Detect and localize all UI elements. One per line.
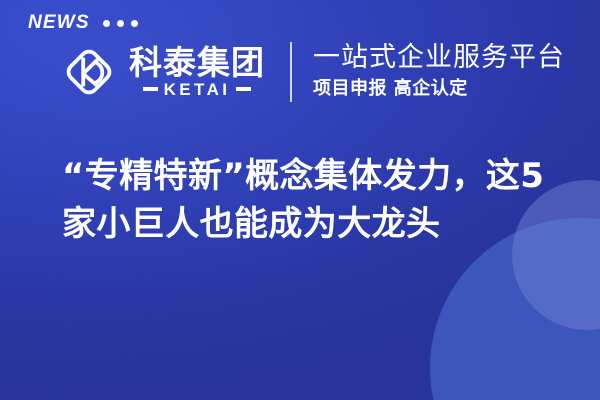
tagline-sub: 项目申报 高企认定 — [313, 78, 565, 101]
brand-name-en: KETAI — [164, 81, 231, 98]
brand-name-cn: 科泰集团 — [129, 46, 265, 80]
dot-icon — [117, 20, 124, 27]
headline: “专精特新”概念集体发力，这5 家小巨人也能成为大龙头 — [62, 152, 562, 249]
dot-icon — [103, 20, 110, 27]
brand-logo: 科泰集团 KETAI — [60, 43, 265, 101]
headline-line-2: 家小巨人也能成为大龙头 — [62, 200, 562, 248]
tagline-main: 一站式企业服务平台 — [313, 43, 565, 74]
brand-wordmark: 科泰集团 KETAI — [129, 46, 265, 98]
eyebrow: NEWS — [28, 13, 138, 32]
rule-right-icon — [236, 87, 251, 91]
tagline-block: 一站式企业服务平台 项目申报 高企认定 — [313, 43, 565, 100]
eyebrow-dots-icon — [103, 19, 138, 27]
dot-icon — [131, 20, 138, 27]
eyebrow-label: NEWS — [28, 13, 90, 32]
headline-line-1: “专精特新”概念集体发力，这5 — [62, 152, 562, 200]
lockup-divider — [290, 42, 292, 102]
brand-name-en-row: KETAI — [143, 81, 252, 98]
ketai-diamond-monogram-icon — [60, 43, 118, 101]
brand-lockup: 科泰集团 KETAI 一站式企业服务平台 项目申报 高企认定 — [60, 42, 565, 102]
rule-left-icon — [143, 87, 158, 91]
news-banner: NEWS 科泰集团 — [0, 0, 600, 400]
